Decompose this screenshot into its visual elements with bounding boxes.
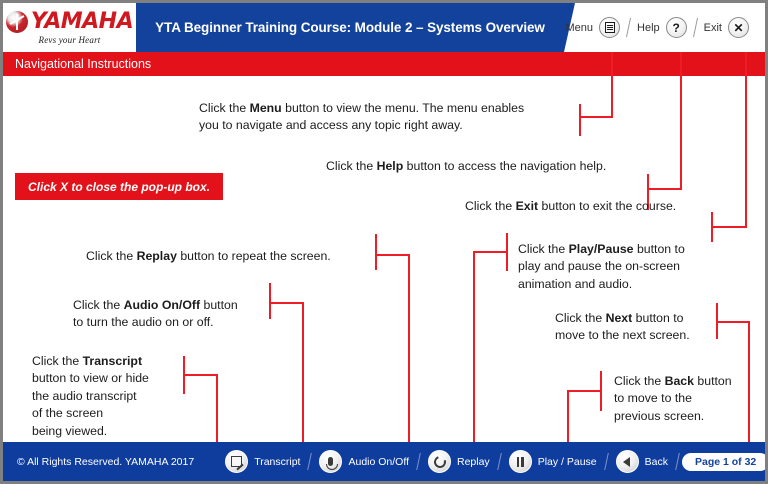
footer-playpause-button[interactable]: Play / Pause	[500, 450, 606, 473]
callout-replay: Click the Replay button to repeat the sc…	[86, 248, 371, 265]
callout-transcript-line4: of the screen	[32, 405, 180, 422]
callout-menu-bold: Menu	[250, 101, 282, 115]
callout-audio-bold: Audio On/Off	[124, 298, 201, 312]
callout-audio-pre: Click the	[73, 298, 124, 312]
connector-help-horizontal	[647, 188, 682, 190]
connector-back-horizontal	[567, 390, 602, 392]
footer-replay-label: Replay	[457, 456, 490, 468]
logo-wordmark: YAMAHA	[31, 11, 133, 33]
callout-audio: Click the Audio On/Off button to turn th…	[73, 297, 265, 332]
exit-button[interactable]: Exit ✕	[696, 17, 757, 38]
transcript-icon[interactable]	[225, 450, 248, 473]
footer-replay-button[interactable]: Replay	[419, 450, 499, 473]
callout-next-post: button to	[632, 311, 683, 325]
callout-menu-line2: you to navigate and access any topic rig…	[199, 117, 579, 134]
connector-audio-horizontal	[269, 302, 304, 304]
callout-menu: Click the Menu button to view the menu. …	[199, 100, 579, 135]
callout-back: Click the Back button to move to the pre…	[614, 373, 754, 425]
footer-transcript-button[interactable]: Transcript	[216, 450, 309, 473]
chevron-left-icon[interactable]	[616, 450, 639, 473]
callout-back-line2: to move to the	[614, 390, 754, 407]
callout-help-bold: Help	[377, 159, 404, 173]
callout-menu-post: button to view the menu. The menu enable…	[282, 101, 524, 115]
header-controls: Menu Help ? Exit ✕	[558, 3, 758, 52]
connector-exit-vertical-stub	[711, 212, 713, 242]
callout-replay-post: button to repeat the screen.	[177, 249, 331, 263]
slide-canvas: Click the Menu button to view the menu. …	[3, 78, 765, 448]
menu-button[interactable]: Menu	[558, 17, 629, 38]
connector-replay-vertical-down	[408, 254, 410, 448]
callout-exit-bold: Exit	[516, 199, 539, 213]
callout-back-bold: Back	[665, 374, 694, 388]
footer-audio-label: Audio On/Off	[348, 456, 409, 468]
popup-close-hint-text: Click X to close the pop-up box.	[28, 180, 210, 194]
menu-button-label: Menu	[566, 22, 594, 34]
footer-audio-button[interactable]: Audio On/Off	[310, 450, 418, 473]
close-x-icon[interactable]: ✕	[728, 17, 749, 38]
section-title: Navigational Instructions	[15, 57, 151, 71]
callout-playpause-post: button to	[634, 242, 685, 256]
connector-next-horizontal	[716, 321, 750, 323]
callout-replay-bold: Replay	[137, 249, 177, 263]
course-player-window: YAMAHA Revs your Heart YTA Beginner Trai…	[0, 0, 768, 484]
page-title: YTA Beginner Training Course: Module 2 –…	[155, 20, 545, 35]
callout-transcript-line5: being viewed.	[32, 423, 180, 440]
help-button-label: Help	[637, 22, 660, 34]
footer-back-button[interactable]: Back	[607, 450, 677, 473]
callout-help: Click the Help button to access the navi…	[326, 158, 646, 175]
course-title-banner: YTA Beginner Training Course: Module 2 –…	[136, 3, 564, 52]
page-indicator: Page 1 of 32	[682, 453, 768, 471]
connector-menu-vertical-stub	[579, 104, 581, 136]
menu-list-icon[interactable]	[599, 17, 620, 38]
question-mark-icon[interactable]: ?	[666, 17, 687, 38]
yamaha-logo: YAMAHA Revs your Heart	[3, 3, 136, 52]
callout-exit-post: button to exit the course.	[538, 199, 676, 213]
callout-exit-pre: Click the	[465, 199, 516, 213]
callout-help-pre: Click the	[326, 159, 377, 173]
footer-navigation-bar: © All Rights Reserved. YAMAHA 2017 Trans…	[3, 442, 765, 481]
connector-audio-vertical-stub	[269, 283, 271, 319]
connector-audio-vertical-down	[302, 302, 304, 448]
connector-replay-vertical-stub	[375, 234, 377, 270]
connector-playpause-horizontal	[473, 251, 508, 253]
popup-close-hint[interactable]: Click X to close the pop-up box.	[15, 173, 223, 200]
callout-help-post: button to access the navigation help.	[403, 159, 606, 173]
callout-audio-post: button	[200, 298, 238, 312]
connector-transcript-horizontal	[183, 374, 218, 376]
callout-next-bold: Next	[606, 311, 633, 325]
logo-tagline: Revs your Heart	[39, 35, 101, 45]
callout-playpause: Click the Play/Pause button to play and …	[518, 241, 728, 293]
callout-menu-pre: Click the	[199, 101, 250, 115]
yamaha-tuning-forks-icon	[6, 11, 28, 33]
callout-playpause-pre: Click the	[518, 242, 569, 256]
callout-back-post: button	[694, 374, 732, 388]
footer-controls: Transcript Audio On/Off Replay Play / Pa…	[216, 450, 768, 473]
connector-menu-vertical-top	[611, 52, 613, 118]
pause-icon[interactable]	[509, 450, 532, 473]
callout-transcript-pre: Click the	[32, 354, 83, 368]
callout-next: Click the Next button to move to the nex…	[555, 310, 717, 345]
callout-audio-line2: to turn the audio on or off.	[73, 314, 265, 331]
connector-transcript-vertical-down	[216, 374, 218, 448]
connector-back-vertical-down	[567, 390, 569, 448]
callout-transcript-bold: Transcript	[83, 354, 142, 368]
callout-next-line2: move to the next screen.	[555, 327, 717, 344]
callout-playpause-bold: Play/Pause	[569, 242, 634, 256]
connector-replay-horizontal	[375, 254, 410, 256]
footer-playpause-label: Play / Pause	[538, 456, 597, 468]
callout-next-pre: Click the	[555, 311, 606, 325]
copyright-text: © All Rights Reserved. YAMAHA 2017	[17, 456, 194, 468]
callout-exit: Click the Exit button to exit the course…	[465, 198, 711, 215]
microphone-icon[interactable]	[319, 450, 342, 473]
callout-playpause-line2: play and pause the on-screen	[518, 258, 728, 275]
callout-playpause-line3: animation and audio.	[518, 276, 728, 293]
replay-circular-arrow-icon[interactable]	[428, 450, 451, 473]
callout-back-pre: Click the	[614, 374, 665, 388]
header-bar: YAMAHA Revs your Heart YTA Beginner Trai…	[3, 3, 765, 52]
section-title-bar: Navigational Instructions	[3, 52, 765, 76]
connector-menu-horizontal	[579, 116, 613, 118]
footer-back-label: Back	[645, 456, 668, 468]
callout-replay-pre: Click the	[86, 249, 137, 263]
exit-button-label: Exit	[704, 22, 722, 34]
connector-exit-vertical-top	[745, 52, 747, 228]
connector-exit-horizontal	[711, 226, 747, 228]
footer-transcript-label: Transcript	[254, 456, 300, 468]
callout-transcript-line3: the audio transcript	[32, 388, 180, 405]
callout-transcript: Click the Transcript button to view or h…	[32, 353, 180, 440]
connector-help-vertical-top	[680, 52, 682, 190]
callout-transcript-line2: button to view or hide	[32, 370, 180, 387]
callout-back-line3: previous screen.	[614, 408, 754, 425]
help-button[interactable]: Help ?	[629, 17, 695, 38]
connector-playpause-vertical-down	[473, 251, 475, 448]
